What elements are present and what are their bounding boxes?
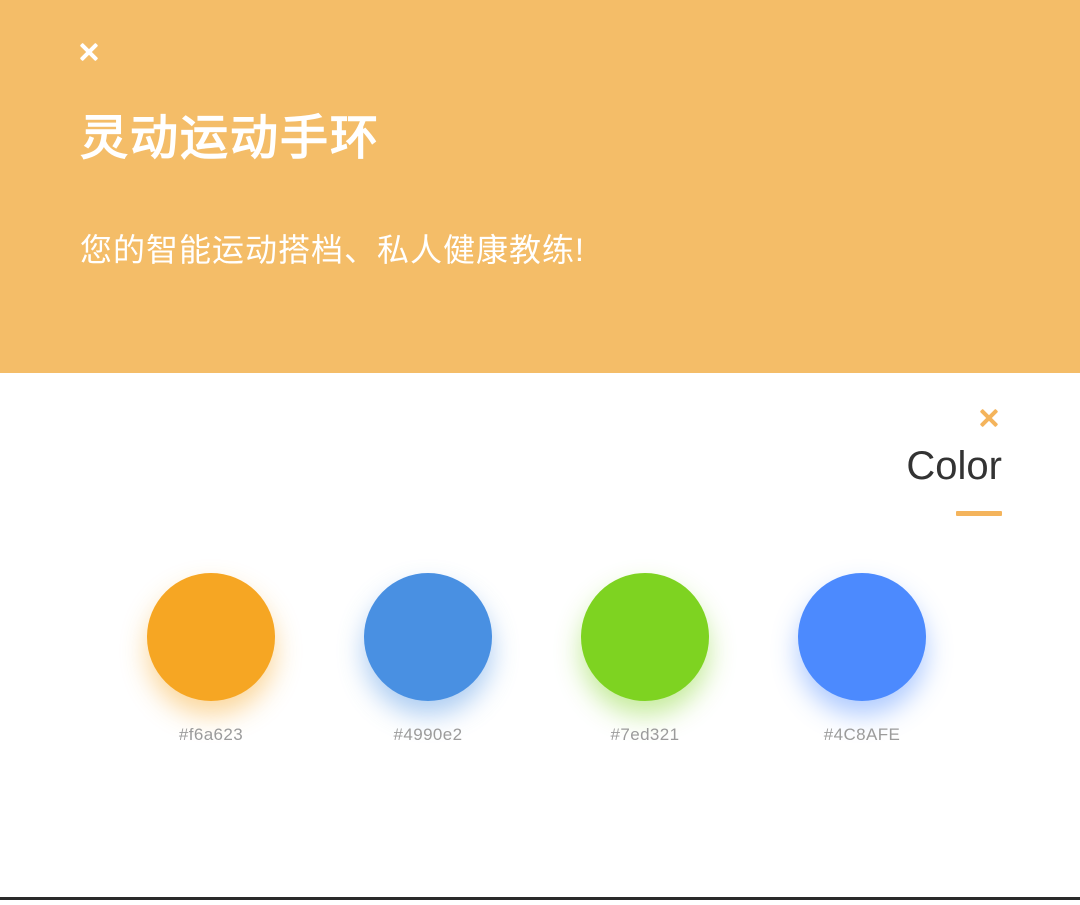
color-hex-label: #f6a623: [146, 723, 276, 747]
title-underline: [956, 511, 1002, 516]
section-header: Color: [906, 405, 1002, 516]
color-swatch[interactable]: #7ed321: [580, 573, 710, 747]
color-dot[interactable]: [581, 573, 709, 701]
hero-banner: 灵动运动手环 您的智能运动搭档、私人健康教练!: [0, 0, 1080, 373]
color-swatch[interactable]: #f6a623: [146, 573, 276, 747]
color-swatch[interactable]: #4C8AFE: [797, 573, 927, 747]
page-subtitle: 您的智能运动搭档、私人健康教练!: [80, 228, 585, 272]
color-swatch-list: #f6a623 #4990e2 #7ed321 #4C8AFE: [0, 573, 1080, 747]
page-bottom-divider: [0, 897, 1080, 900]
page-title: 灵动运动手环: [80, 108, 380, 170]
color-hex-label: #4990e2: [363, 723, 493, 747]
color-dot[interactable]: [364, 573, 492, 701]
color-section: Color #f6a623 #4990e2 #7ed321 #4C8AFE: [0, 373, 1080, 905]
color-hex-label: #4C8AFE: [797, 723, 927, 747]
color-swatch[interactable]: #4990e2: [363, 573, 493, 747]
color-dot[interactable]: [147, 573, 275, 701]
close-icon[interactable]: [976, 405, 1002, 431]
color-dot[interactable]: [798, 573, 926, 701]
color-hex-label: #7ed321: [580, 723, 710, 747]
close-icon[interactable]: [74, 37, 104, 67]
section-title: Color: [906, 443, 1002, 489]
